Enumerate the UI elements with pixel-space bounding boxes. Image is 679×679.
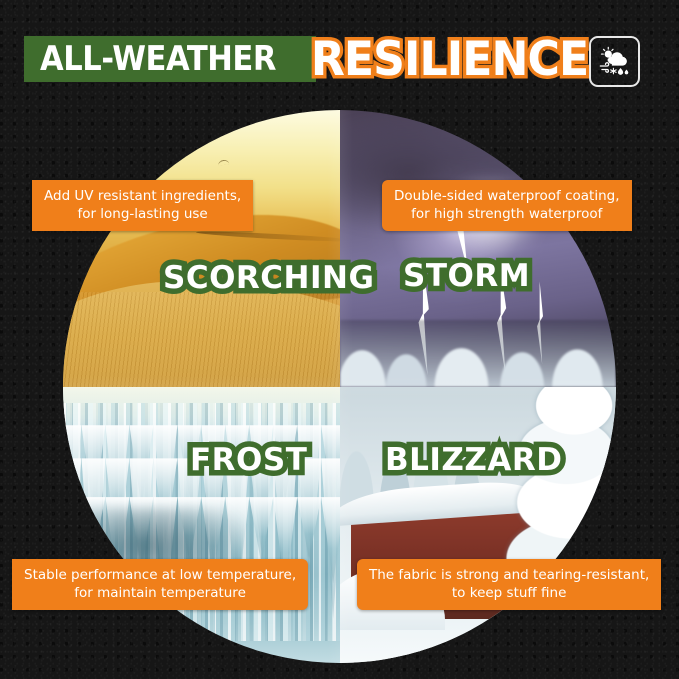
callout-tear-resistant: The fabric is strong and tearing-resista… <box>357 559 661 610</box>
header-title-resilience: RESILIENCE <box>311 36 588 83</box>
callout-waterproof-line2: for high strength waterproof <box>394 205 620 223</box>
callout-uv-line1: Add UV resistant ingredients, <box>44 187 241 205</box>
callout-uv-line2: for long-lasting use <box>44 205 241 223</box>
scene-ice <box>63 387 340 664</box>
scene-desert <box>63 110 340 387</box>
callout-waterproof: Double-sided waterproof coating, for hig… <box>382 180 632 231</box>
label-frost: FROST <box>190 444 307 477</box>
label-scorching: SCORCHING <box>163 262 374 295</box>
callout-low-temperature: Stable performance at low temperature, f… <box>12 559 308 610</box>
poster-canvas: SCORCHING STORM FROST BLIZZARD Add UV re… <box>0 0 679 679</box>
callout-lowtemp-line1: Stable performance at low temperature, <box>24 566 296 584</box>
label-storm: STORM <box>403 260 530 293</box>
callout-tear-line2: to keep stuff fine <box>369 584 649 602</box>
header-green-bar: ALL-WEATHER <box>24 36 316 82</box>
weather-mixed-icon <box>589 36 640 87</box>
scene-snow-cabin <box>340 387 617 664</box>
callout-waterproof-line1: Double-sided waterproof coating, <box>394 187 620 205</box>
header-title-all-weather: ALL-WEATHER <box>40 39 276 79</box>
label-blizzard: BLIZZARD <box>385 444 562 477</box>
callout-uv-resistant: Add UV resistant ingredients, for long-l… <box>32 180 253 231</box>
callout-tear-line1: The fabric is strong and tearing-resista… <box>369 566 649 584</box>
callout-lowtemp-line2: for maintain temperature <box>24 584 296 602</box>
header-banner: ALL-WEATHER RESILIENCE <box>24 31 597 87</box>
scene-storm <box>340 110 617 387</box>
